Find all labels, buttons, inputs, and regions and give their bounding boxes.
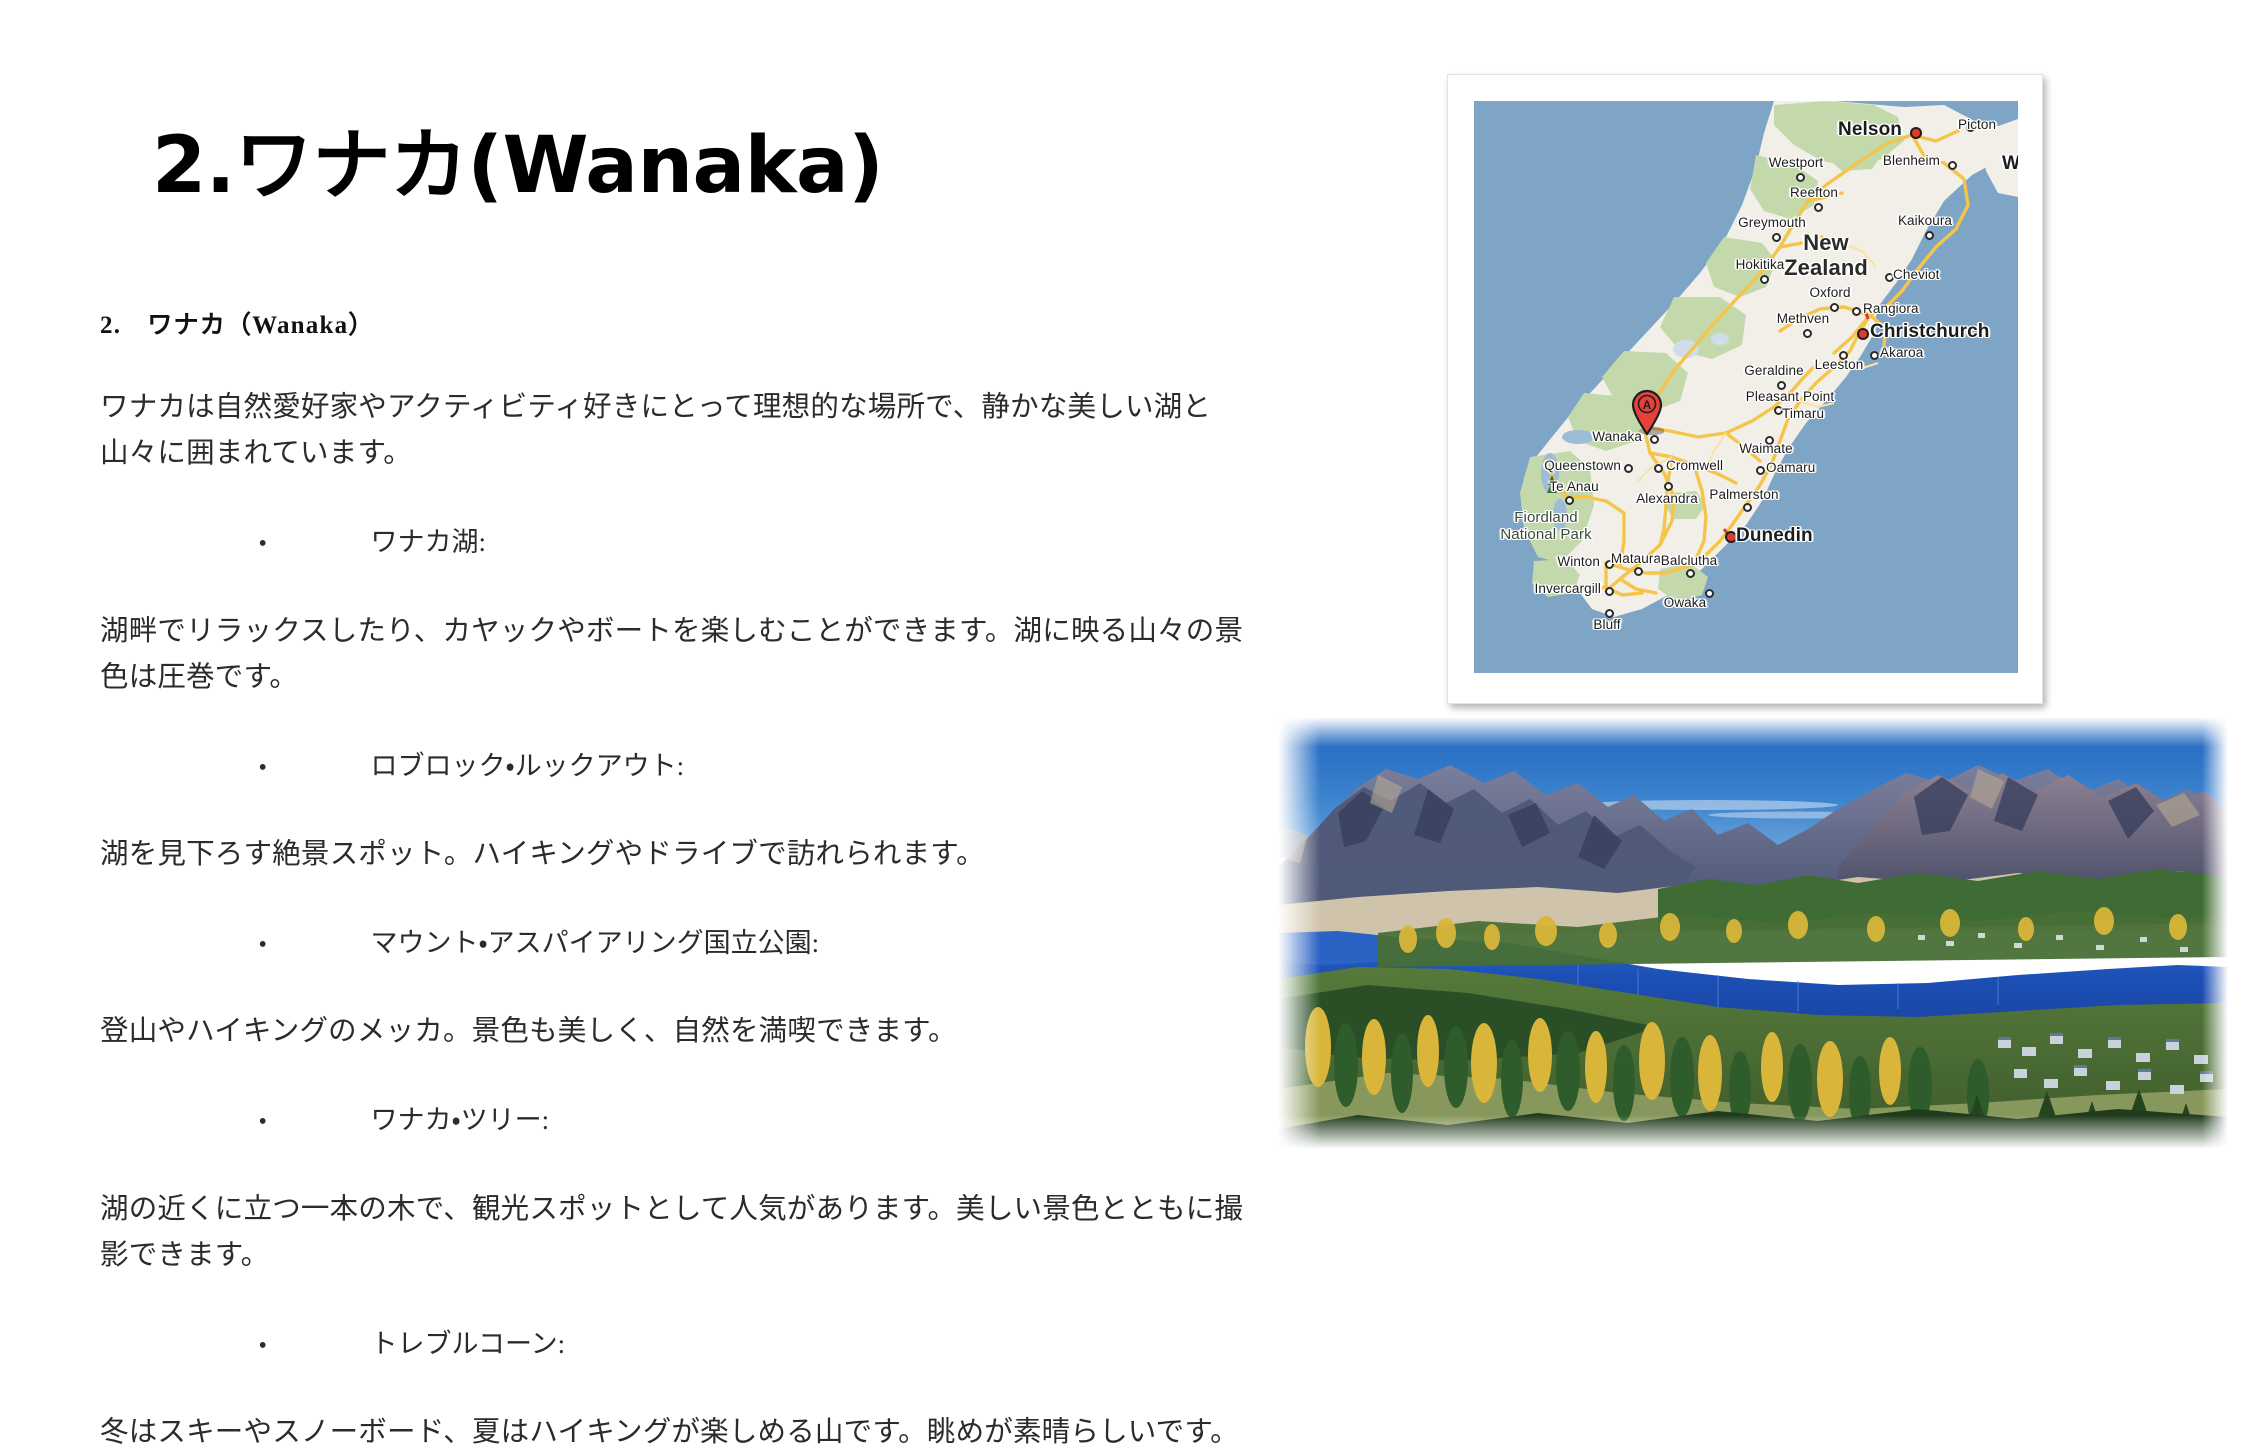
list-item-description: 登山やハイキングのメッカ。景色も美しく、自然を満喫できます。 <box>100 1009 1260 1055</box>
list-item: •ワナカ湖: <box>100 477 1260 608</box>
list-item-heading: ワナカ湖: <box>371 527 487 557</box>
map-city-dot <box>1654 464 1663 473</box>
bullet-icon: • <box>259 525 371 564</box>
bullet-icon: • <box>259 749 371 788</box>
map-city-dot <box>1605 609 1614 618</box>
bullet-icon: • <box>259 1103 371 1142</box>
map-city-dot <box>1803 329 1812 338</box>
map-marker-pin-icon[interactable]: A <box>1630 389 1664 435</box>
map-city-dot <box>1966 123 1975 132</box>
map-city-dot <box>1852 307 1861 316</box>
map-city-dot <box>1772 233 1781 242</box>
list-item-description: 冬はスキーやスノーボード、夏はハイキングが楽しめる山です。眺めが素晴らしいです。 <box>100 1410 1260 1456</box>
map-city-dot <box>1774 406 1783 415</box>
map-city-dot <box>1839 351 1848 360</box>
map-city-dot <box>1743 503 1752 512</box>
list-item: •トレブルコーン: <box>100 1279 1260 1410</box>
map-city-dot <box>1605 560 1614 569</box>
map-city-dot <box>1565 496 1574 505</box>
map-marker-letter: A <box>1643 398 1652 412</box>
map-city-dot <box>1650 435 1659 444</box>
map-city-dot <box>1756 466 1765 475</box>
map-city-dot <box>1725 531 1737 543</box>
list-item: •ロブロック・ルックアウト: <box>100 701 1260 832</box>
scenic-photo-wrap <box>1278 717 2228 1149</box>
map-city-dot <box>1760 275 1769 284</box>
map-city-dot <box>1814 203 1823 212</box>
list-item: •ワナカ・ツリー: <box>100 1056 1260 1187</box>
list-item-heading: ワナカ・ツリー: <box>371 1105 550 1135</box>
page-title: 2.ワナカ(Wanaka) <box>152 126 883 208</box>
map-city-dot <box>1705 589 1714 598</box>
list-item-heading: トレブルコーン: <box>371 1329 566 1359</box>
body-text-block: 2. ワナカ（Wanaka） ワナカは自然愛好家やアクティビティ好きにとって理想… <box>100 305 1260 1456</box>
map-city-dot <box>1624 464 1633 473</box>
map-city-dot <box>1925 231 1934 240</box>
list-item: •マウント・アスパイアリング国立公園: <box>100 878 1260 1009</box>
map-inner: New Zealand Fiordland National Park <box>1474 101 2018 673</box>
list-item-description: 湖畔でリラックスしたり、カヤックやボートを楽しむことができます。湖に映る山々の景… <box>100 609 1260 701</box>
lake-wanaka-photo <box>1278 717 2228 1149</box>
map-city-dot <box>1634 567 1643 576</box>
intro-paragraph: ワナカは自然愛好家やアクティビティ好きにとって理想的な場所で、静かな美しい湖と山… <box>100 385 1260 477</box>
list-item-description: 湖を見下ろす絶景スポット。ハイキングやドライブで訪れられます。 <box>100 832 1260 878</box>
map-city-dot <box>1765 436 1774 445</box>
map-city-dot <box>1948 161 1957 170</box>
map-city-dot <box>1910 127 1922 139</box>
list-item-heading: マウント・アスパイアリング国立公園: <box>371 928 820 958</box>
map-city-dot <box>1605 587 1614 596</box>
list-item-description: 湖の近くに立つ一本の木で、観光スポットとして人気があります。美しい景色とともに撮… <box>100 1187 1260 1279</box>
list-item-heading: ロブロック・ルックアウト: <box>371 751 685 781</box>
bullet-icon: • <box>259 1327 371 1366</box>
map-image-card: New Zealand Fiordland National Park <box>1447 74 2043 704</box>
map-city-dot <box>1686 569 1695 578</box>
bullet-icon: • <box>259 926 371 965</box>
new-zealand-map-graphic <box>1474 101 2018 673</box>
lake-wanaka-photo-graphic <box>1278 717 2228 1149</box>
section-subheading: 2. ワナカ（Wanaka） <box>100 305 1260 341</box>
map-viewport[interactable]: New Zealand Fiordland National Park <box>1474 101 2018 673</box>
map-city-dot <box>1777 381 1786 390</box>
map-city-dot <box>1830 303 1839 312</box>
slide-canvas: 2.ワナカ(Wanaka) 2. ワナカ（Wanaka） ワナカは自然愛好家やア… <box>0 0 2244 1247</box>
map-city-dot <box>1870 351 1879 360</box>
map-city-dot <box>1857 328 1869 340</box>
map-city-dot <box>1664 482 1673 491</box>
map-city-dot <box>1796 173 1805 182</box>
map-city-dot <box>1885 273 1894 282</box>
